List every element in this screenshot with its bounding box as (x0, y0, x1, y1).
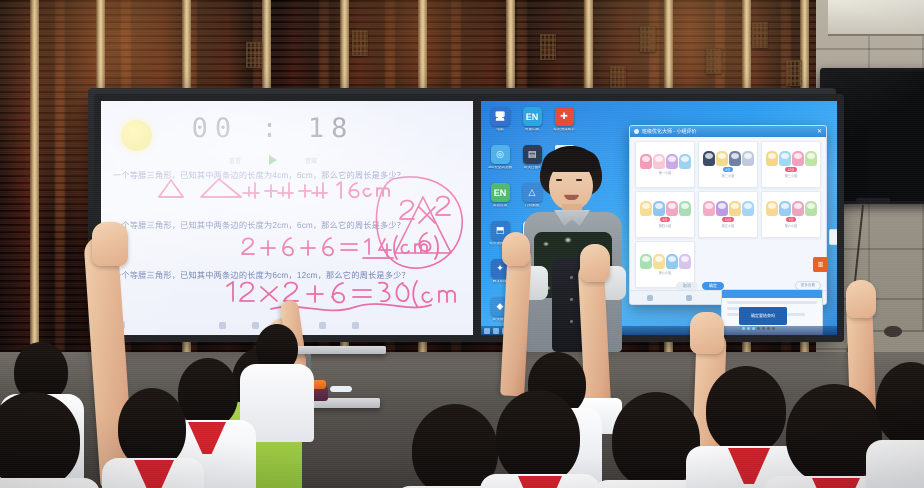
app-title-bar[interactable]: 班级优化大师 - 小组评价 ✕ (630, 126, 826, 137)
group-name: 第五小组 (722, 223, 735, 228)
group-score-badge: 7分 (786, 217, 797, 222)
student-head (706, 366, 786, 454)
avatar (703, 201, 715, 216)
group-avatars (703, 201, 754, 216)
avatar (716, 151, 728, 166)
student-torso (0, 478, 100, 488)
student-head (496, 390, 580, 484)
red-neckerchief (518, 476, 562, 488)
group-card[interactable]: 第七小组 (635, 241, 695, 288)
icon-label: 希沃授课助手 (553, 128, 575, 132)
group-name: 第七小组 (659, 270, 672, 275)
avatar (805, 151, 817, 166)
group-card[interactable]: 11分 第五小组 (698, 191, 758, 238)
group-card[interactable]: 7分 第六小组 (761, 191, 821, 238)
avatar (679, 154, 691, 169)
student-head (118, 388, 186, 468)
dialog-line (727, 301, 817, 304)
wall-pilaster (30, 0, 39, 360)
group-name: 第三小组 (785, 173, 798, 178)
raised-hand (580, 244, 610, 282)
notification-app-icon[interactable]: ▥ (813, 257, 828, 272)
wall-carved-tile (706, 48, 722, 74)
sidebar-toggle-handle[interactable] (829, 229, 838, 245)
group-card[interactable]: 9分 第四小组 (635, 191, 695, 238)
avatar (666, 201, 678, 216)
app-icon[interactable]: ◎ (491, 145, 510, 164)
avatar (742, 201, 754, 216)
led-icon (747, 327, 750, 330)
avatar (640, 201, 652, 216)
group-score-badge: 12分 (785, 167, 798, 172)
group-score-badge: 9分 (660, 217, 671, 222)
classroom-scene: 00 : 18 重置 音效 一个等腰三角形，已知其中两条边的长度为4cm，6cm… (0, 0, 924, 488)
student-head (412, 404, 498, 488)
student-head (178, 358, 238, 428)
avatar (679, 201, 691, 216)
panel-led-indicators (742, 327, 775, 330)
avatar (666, 254, 678, 269)
group-name: 第六小组 (785, 223, 798, 228)
group-avatars (640, 154, 691, 169)
app-icon[interactable]: EN (491, 183, 510, 202)
red-neckerchief (812, 478, 860, 488)
avatar (703, 151, 715, 166)
class-management-app-window[interactable]: 班级优化大师 - 小组评价 ✕ 第一小组 (629, 125, 827, 305)
app-window-title: 班级优化大师 - 小组评价 (642, 128, 696, 135)
raised-hand (690, 312, 724, 354)
app-icon[interactable]: EN (523, 107, 542, 126)
teacher-eye (576, 179, 582, 181)
app-action-buttons[interactable]: 取消 确定 (676, 282, 724, 290)
teacher-figure (518, 146, 628, 352)
app-icon[interactable]: ✚ (555, 107, 574, 126)
avatar (766, 151, 778, 166)
avatar (640, 154, 652, 169)
avatar (779, 151, 791, 166)
group-avatars (703, 151, 754, 166)
wall-carved-tile (752, 22, 768, 48)
avatar (805, 201, 817, 216)
avatar (729, 201, 741, 216)
group-avatars (640, 254, 691, 269)
led-icon (767, 327, 770, 330)
group-name: 第一小组 (659, 170, 672, 175)
wall-carved-tile (786, 60, 802, 86)
group-card[interactable]: 第一小组 (635, 141, 695, 188)
close-icon[interactable]: ✕ (817, 128, 822, 135)
avatar (716, 201, 728, 216)
icon-label: 360安全浏览器 (488, 166, 512, 170)
desktop-icon[interactable]: ✚希沃授课助手 (549, 107, 579, 143)
app-icon[interactable]: 🖥 (491, 107, 510, 126)
more-icon[interactable] (352, 322, 359, 329)
avatar (666, 154, 678, 169)
desktop-icon[interactable]: 🖥电脑 (485, 107, 515, 143)
desktop-icon[interactable]: ◎360安全浏览器 (485, 145, 515, 181)
student-torso (866, 440, 924, 488)
group-avatars (640, 201, 691, 216)
eraser-icon[interactable] (252, 322, 259, 329)
confirm-popup[interactable]: 确定要结束吗 (739, 307, 787, 325)
group-name: 第四小组 (659, 223, 672, 228)
ceiling-soffit (828, 0, 924, 36)
raised-hand (92, 222, 128, 266)
avatar (766, 201, 778, 216)
group-avatars (766, 201, 817, 216)
icon-label: 英语点读 (493, 204, 507, 208)
group-card[interactable]: 8分 第二小组 (698, 141, 758, 188)
desktop-icon[interactable]: EN有道词典 (517, 107, 547, 143)
led-icon (752, 327, 755, 330)
avatar (792, 151, 804, 166)
roll-call-icon[interactable] (647, 295, 653, 301)
taskbar-app-icon[interactable] (493, 328, 499, 334)
led-icon (762, 327, 765, 330)
pen-icon[interactable] (219, 322, 226, 329)
avatar (653, 201, 665, 216)
wall-carved-tile (640, 26, 656, 52)
notebook (330, 386, 352, 392)
avatar (679, 254, 691, 269)
raised-hand (502, 232, 530, 266)
apron-button (570, 276, 573, 279)
icon-label: 有道词典 (525, 128, 539, 132)
teacher-fringe (542, 150, 600, 172)
cancel-button[interactable]: 取消 (676, 282, 698, 290)
group-score-badge: 8分 (723, 167, 734, 172)
avatar (640, 254, 652, 269)
wall-carved-tile (540, 34, 556, 60)
undo-icon[interactable] (319, 322, 326, 329)
avatar (729, 151, 741, 166)
led-icon (772, 327, 775, 330)
apron-button (570, 320, 573, 323)
led-icon (757, 327, 760, 330)
app-logo-icon (634, 129, 639, 134)
confirm-popup-label: 确定要结束吗 (751, 313, 775, 319)
avatar (779, 201, 791, 216)
teacher-eye (556, 179, 562, 181)
tv-base (856, 198, 890, 204)
avatar (742, 151, 754, 166)
avatar (792, 201, 804, 216)
random-pick-icon[interactable] (686, 295, 692, 301)
wall-carved-tile (352, 30, 368, 56)
group-avatars (766, 151, 817, 166)
raised-hand (846, 280, 876, 318)
group-score-badge: 11分 (722, 217, 735, 222)
dialog-title-bar (722, 290, 822, 298)
icon-label: 电脑 (496, 128, 503, 132)
start-button-icon[interactable] (484, 328, 490, 334)
group-name: 第二小组 (722, 173, 735, 178)
computer-mouse (884, 326, 902, 337)
wall-carved-tile (246, 42, 262, 68)
apron-button (570, 298, 573, 301)
avatar (653, 154, 665, 169)
desktop-icon[interactable]: EN英语点读 (485, 183, 515, 219)
group-card[interactable]: 12分 第三小组 (761, 141, 821, 188)
led-icon (742, 327, 745, 330)
avatar (653, 254, 665, 269)
group-card-grid[interactable]: 第一小组 8分 第二小组 (635, 141, 821, 288)
